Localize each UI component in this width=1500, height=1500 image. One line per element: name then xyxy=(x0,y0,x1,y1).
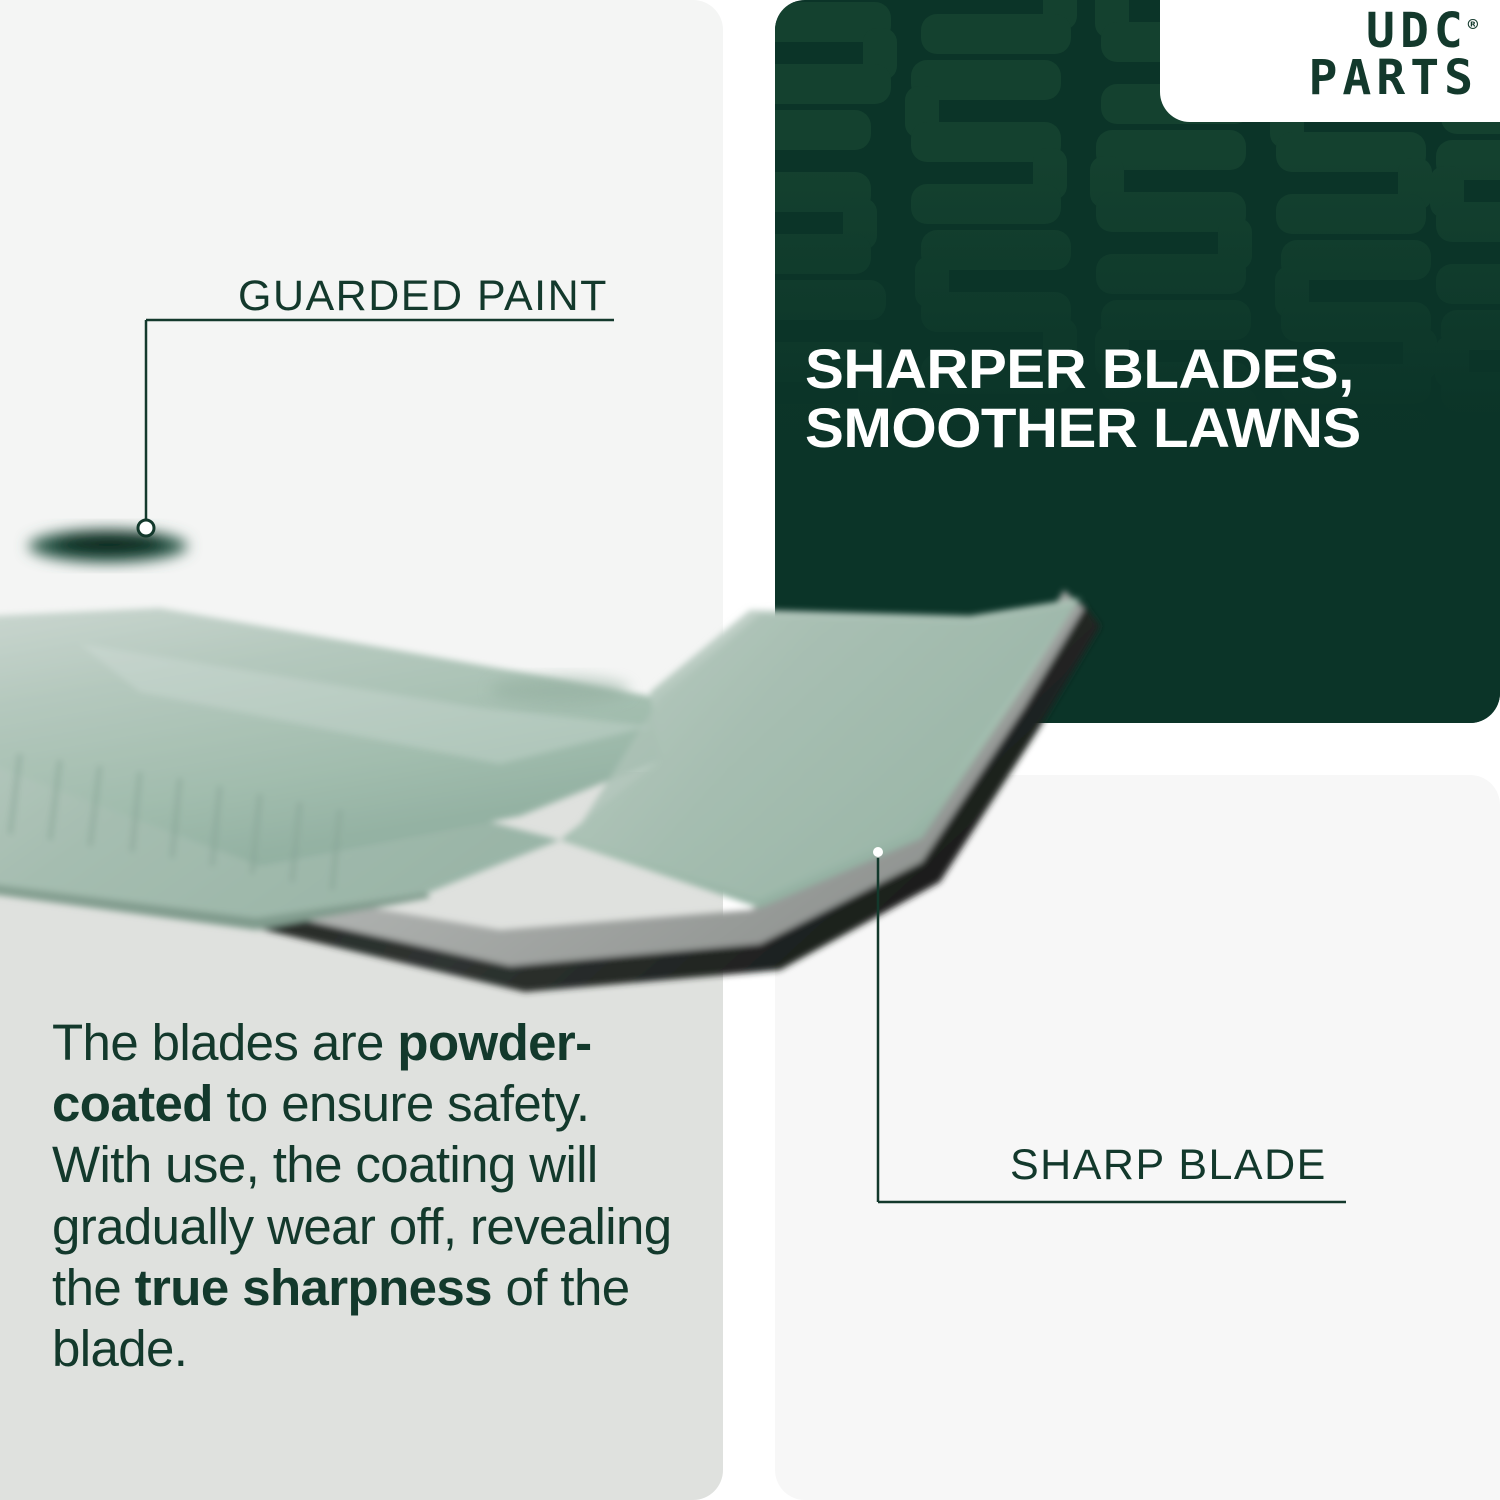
headline-line-2: SMOOTHER LAWNS xyxy=(805,399,1500,458)
logo-line-udc: UDC® xyxy=(1309,8,1479,55)
body-seg-3-bold: true sharpness xyxy=(135,1259,492,1316)
logo-notch: UDC® PARTS xyxy=(1160,0,1500,122)
registered-trademark-icon: ® xyxy=(1468,15,1478,35)
description-paragraph: The blades are powder-coated to ensure s… xyxy=(52,1012,692,1379)
callout-label-guarded-paint: GUARDED PAINT xyxy=(238,272,608,321)
udc-parts-logo: UDC® PARTS xyxy=(1309,8,1479,102)
headline: SHARPER BLADES, SMOOTHER LAWNS xyxy=(805,340,1500,458)
photo-card-top-left xyxy=(0,0,723,726)
body-seg-0: The blades are xyxy=(52,1014,397,1071)
headline-line-1: SHARPER BLADES, xyxy=(805,340,1500,399)
product-infographic: UDC® PARTS SHARPER BLADES, SMOOTHER LAWN… xyxy=(0,0,1500,1500)
callout-card-bottom-right xyxy=(775,775,1500,1500)
callout-label-sharp-blade: SHARP BLADE xyxy=(1010,1141,1327,1190)
logo-line-parts: PARTS xyxy=(1309,55,1479,102)
